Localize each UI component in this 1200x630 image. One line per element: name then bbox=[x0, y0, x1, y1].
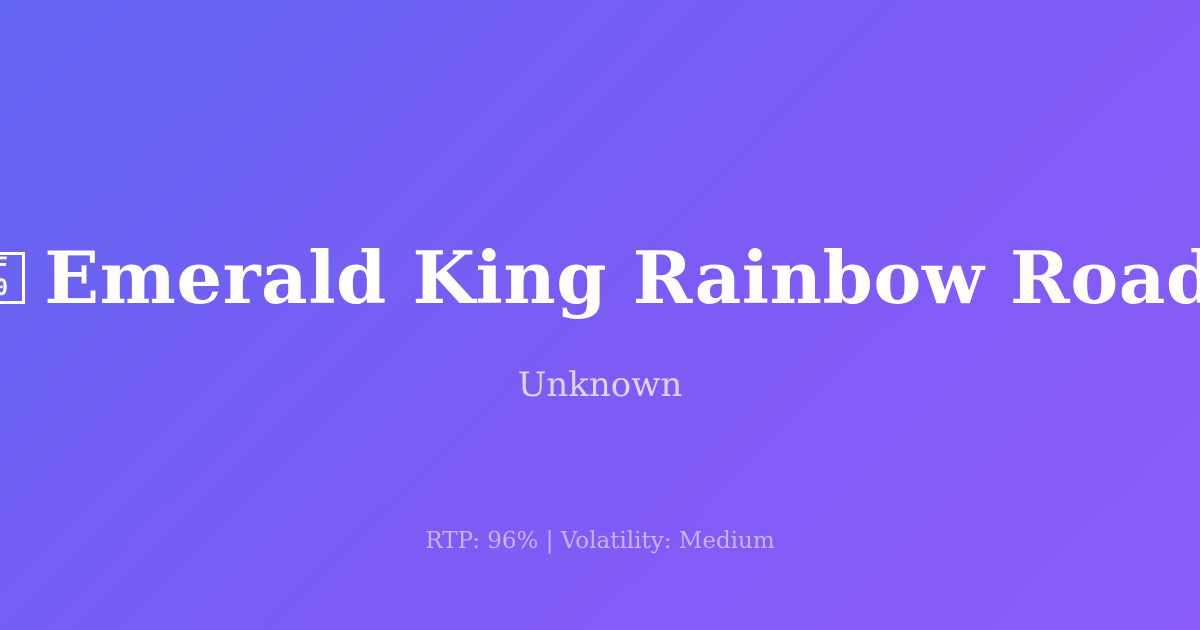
tofu-codepoint-bottom: B0 bbox=[0, 278, 8, 300]
game-meta-line: RTP: 96% | Volatility: Medium bbox=[0, 527, 1200, 557]
page-title: Emerald King Rainbow Road bbox=[44, 240, 1200, 316]
title-row: 1F B0 Emerald King Rainbow Road bbox=[0, 230, 1200, 326]
og-preview-card: 1F B0 Emerald King Rainbow Road Unknown … bbox=[0, 0, 1200, 630]
page-subtitle: Unknown bbox=[0, 363, 1200, 407]
slot-machine-emoji-tofu-icon: 1F B0 bbox=[0, 252, 25, 304]
tofu-codepoint-top: 1F bbox=[0, 256, 8, 278]
